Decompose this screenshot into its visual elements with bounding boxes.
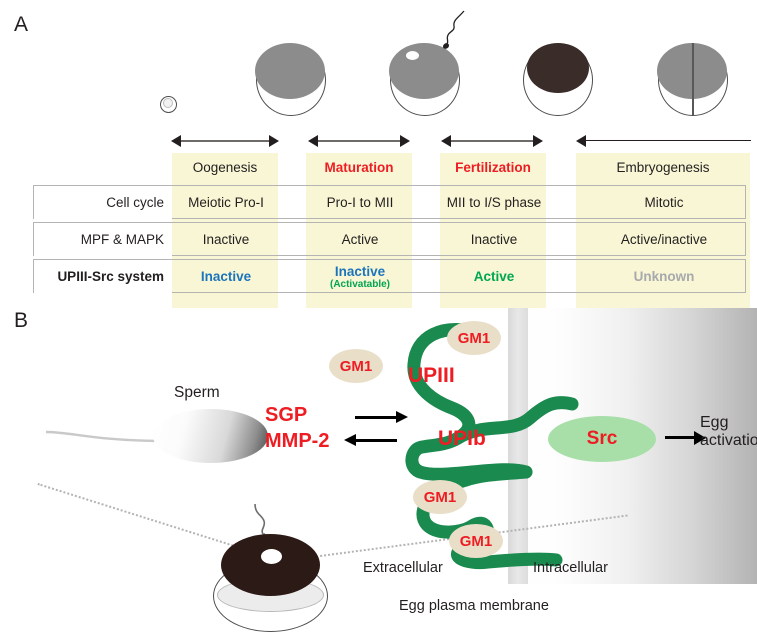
arrow-egg-activation [665, 436, 695, 439]
intracellular-label: Intracellular [533, 560, 608, 576]
stage-name-maturation: Maturation [306, 155, 412, 181]
cell-mature-egg-with-sperm [390, 44, 460, 116]
row-label-mpf-mapk: MPF & MAPK [34, 223, 172, 257]
upib-label: UPIb [438, 427, 486, 451]
table-row: Cell cycle Meiotic Pro-I Pro-I to MII MI… [33, 185, 746, 219]
cell-cycle-fertilization: MII to I/S phase [441, 186, 547, 220]
cell-cycle-oogenesis: Meiotic Pro-I [173, 186, 279, 220]
upiii-label: UPIII [408, 364, 455, 388]
table-row: MPF & MAPK Inactive Active Inactive Acti… [33, 222, 746, 256]
arrowhead-left-icon [308, 135, 318, 147]
extracellular-label: Extracellular [363, 560, 443, 576]
sperm-label: Sperm [174, 384, 220, 402]
sperm-icon [426, 10, 482, 58]
egg-activation-label: Egg activation [700, 414, 757, 451]
upiii-src-oogenesis: Inactive [173, 260, 279, 294]
arrowhead-right-icon [269, 135, 279, 147]
egg-activation-line1: Egg [700, 414, 757, 432]
cell-small-oocyte [160, 96, 177, 113]
sperm-head [153, 409, 268, 463]
egg-activation-line2: activation [700, 432, 757, 450]
mpf-mapk-oogenesis: Inactive [173, 223, 279, 257]
upiii-src-embryogenesis: Unknown [577, 260, 751, 294]
cell-cycle-embryogenesis: Mitotic [577, 186, 751, 220]
upiii-src-maturation-note: (Activatable) [307, 279, 413, 291]
arrowhead-left-icon [441, 135, 451, 147]
cell-dark-cap [527, 43, 589, 93]
gm1-ganglioside-top-right: GM1 [447, 321, 501, 355]
arrowhead-left-icon [171, 135, 181, 147]
cell-nucleus [163, 98, 173, 108]
panel-b: B Sperm SGP MMP-2 UPIII UPIb GM1 GM1 GM1… [0, 308, 757, 632]
arrowhead-right-icon [533, 135, 543, 147]
cell-dividing-embryo [658, 44, 728, 116]
cleavage-furrow-line [692, 43, 694, 115]
mpf-mapk-embryogenesis: Active/inactive [577, 223, 751, 257]
cell-cycle-maturation: Pro-I to MII [307, 186, 413, 220]
upiii-src-maturation-value: Inactive [307, 264, 413, 279]
stage-property-table: Cell cycle Meiotic Pro-I Pro-I to MII MI… [33, 185, 746, 296]
stage-span-arrows [0, 130, 757, 152]
stage-name-oogenesis: Oogenesis [172, 155, 278, 181]
row-label-cell-cycle: Cell cycle [34, 186, 172, 220]
arrow-maturation-span [317, 140, 401, 142]
gm1-ganglioside-left: GM1 [329, 349, 383, 383]
upiii-src-fertilization: Active [441, 260, 547, 294]
cell-fertilized-egg [523, 44, 593, 116]
mmp2-label: MMP-2 [265, 430, 329, 453]
panel-a: A [0, 0, 757, 308]
sgp-label: SGP [265, 404, 307, 427]
arrowhead-right-icon [400, 135, 410, 147]
panel-b-label: B [14, 310, 28, 331]
egg-nucleus [261, 549, 282, 564]
stage-name-fertilization: Fertilization [440, 155, 546, 181]
stage-name-embryogenesis: Embryogenesis [576, 155, 750, 181]
row-label-upiii-src-system: UPIII-Src system [34, 260, 172, 294]
egg-plasma-membrane-label: Egg plasma membrane [399, 598, 549, 614]
gm1-ganglioside-lower-left: GM1 [413, 480, 467, 514]
arrowhead-left-icon [344, 434, 356, 446]
polar-body [406, 51, 419, 60]
gm1-ganglioside-bottom: GM1 [449, 524, 503, 558]
sperm-tail-icon [45, 430, 157, 446]
table-row: UPIII-Src system Inactive Inactive (Acti… [33, 259, 746, 293]
src-kinase: Src [548, 416, 656, 462]
egg-animal-pole [221, 534, 320, 596]
stage-name-row: Oogenesis Maturation Fertilization Embry… [33, 155, 746, 181]
arrow-embryogenesis-span [585, 140, 751, 141]
arrow-oogenesis-span [180, 140, 270, 142]
arrowhead-left-icon [576, 135, 586, 147]
upiii-src-maturation: Inactive (Activatable) [307, 260, 413, 294]
mpf-mapk-fertilization: Inactive [441, 223, 547, 257]
cell-cytoplasm-cap [255, 43, 325, 99]
whole-egg-illustration [213, 516, 328, 632]
mpf-mapk-maturation: Active [307, 223, 413, 257]
arrow-fertilization-span [450, 140, 534, 142]
cell-immature-oocyte [256, 44, 326, 116]
egg-stage-illustrations [0, 22, 757, 130]
